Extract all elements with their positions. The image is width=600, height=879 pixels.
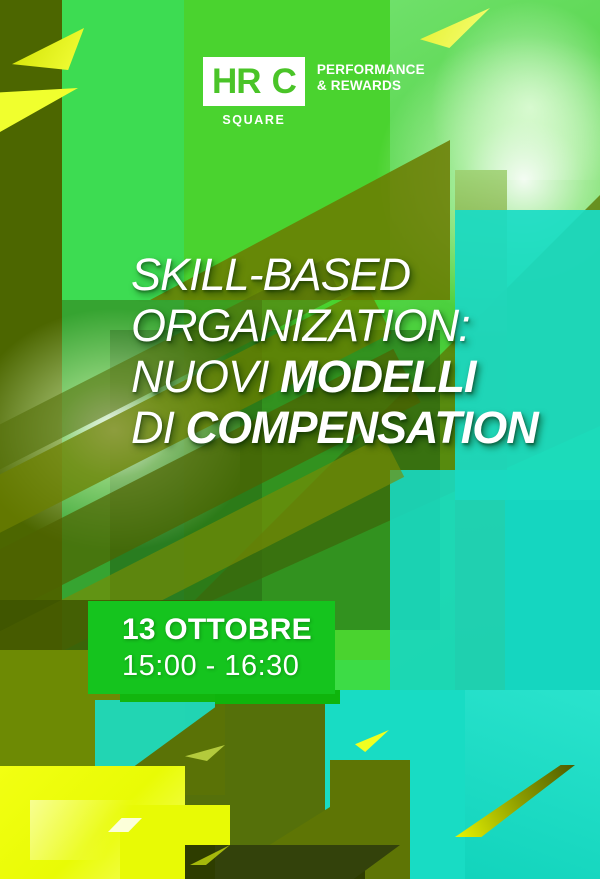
title-line-3: NUOVI MODELLI	[131, 351, 551, 402]
poster-title: SKILL-BASED ORGANIZATION: NUOVI MODELLI …	[131, 249, 551, 453]
brand-tagline: PERFORMANCE & REWARDS	[317, 62, 425, 95]
title-line-4-light: DI	[131, 402, 186, 453]
title-line-3-bold: MODELLI	[280, 351, 475, 402]
hrc-square-logo: HR C SQUARE	[203, 57, 305, 127]
event-date-text: 13 OTTOBRE 15:00 - 16:30	[122, 612, 312, 684]
title-line-1: SKILL-BASED	[131, 249, 551, 300]
title-line-4: DI COMPENSATION	[131, 402, 551, 453]
logo-letters-hr: HR	[212, 66, 261, 98]
logo-box: HR C	[203, 57, 305, 106]
logo-divider	[265, 64, 268, 100]
logo-letter-c: C	[272, 66, 296, 98]
event-date: 13 OTTOBRE	[122, 612, 312, 648]
title-line-3-light: NUOVI	[131, 351, 280, 402]
event-time: 15:00 - 16:30	[122, 648, 312, 684]
title-line-4-bold: COMPENSATION	[186, 402, 538, 453]
event-poster: HR C SQUARE PERFORMANCE & REWARDS SKILL-…	[0, 0, 600, 879]
poster-content: HR C SQUARE PERFORMANCE & REWARDS SKILL-…	[0, 0, 600, 879]
logo-subtitle: SQUARE	[222, 113, 285, 127]
title-line-2: ORGANIZATION:	[131, 300, 551, 351]
tagline-line-2: & REWARDS	[317, 78, 425, 94]
tagline-line-1: PERFORMANCE	[317, 62, 425, 78]
brand-lockup: HR C SQUARE PERFORMANCE & REWARDS	[203, 57, 425, 127]
